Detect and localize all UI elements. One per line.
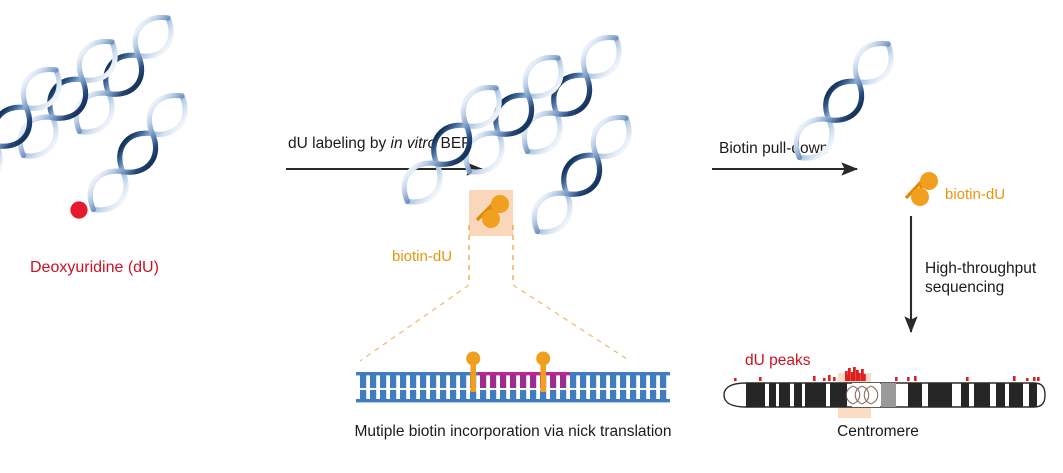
- du-peak-ticks: [734, 367, 1040, 381]
- ladder-rungs-upper: [360, 375, 666, 388]
- ladder-rungs-lower: [360, 390, 666, 401]
- biotin-lollipop-icon-1: [466, 352, 480, 393]
- dna-cluster-unlabeled: [0, 0, 300, 250]
- arrow-down-icon: [902, 216, 920, 344]
- biotin-lollipop-icon-2: [536, 352, 550, 393]
- figure-canvas: Deoxyuridine (dU) dU labeling by in vitr…: [0, 0, 1063, 473]
- arrow3-label: High-throughputsequencing: [925, 260, 1036, 298]
- du-peaks-label: dU peaks: [745, 352, 810, 371]
- deoxyuridine-label: Deoxyuridine (dU): [30, 258, 159, 278]
- biotin-du-label-right: biotin-dU: [945, 186, 1005, 204]
- dna-ladder-icon: [352, 352, 674, 412]
- arrow1-label-part1: dU labeling by: [288, 135, 391, 152]
- deoxyuridine-dot-icon: [70, 201, 87, 218]
- arrow3-label-line2: sequencing: [925, 279, 1004, 296]
- centromere-label: Centromere: [778, 423, 978, 442]
- inset-caption: Mutiple biotin incorporation via nick tr…: [333, 423, 693, 442]
- inset-connector-lines: [340, 225, 570, 365]
- dna-helix-icon: [0, 0, 300, 250]
- biotin-molecule-icon: [900, 168, 946, 214]
- arrow3-label-line1: High-throughput: [925, 260, 1036, 277]
- chromosome-ideogram-icon: [712, 370, 1048, 420]
